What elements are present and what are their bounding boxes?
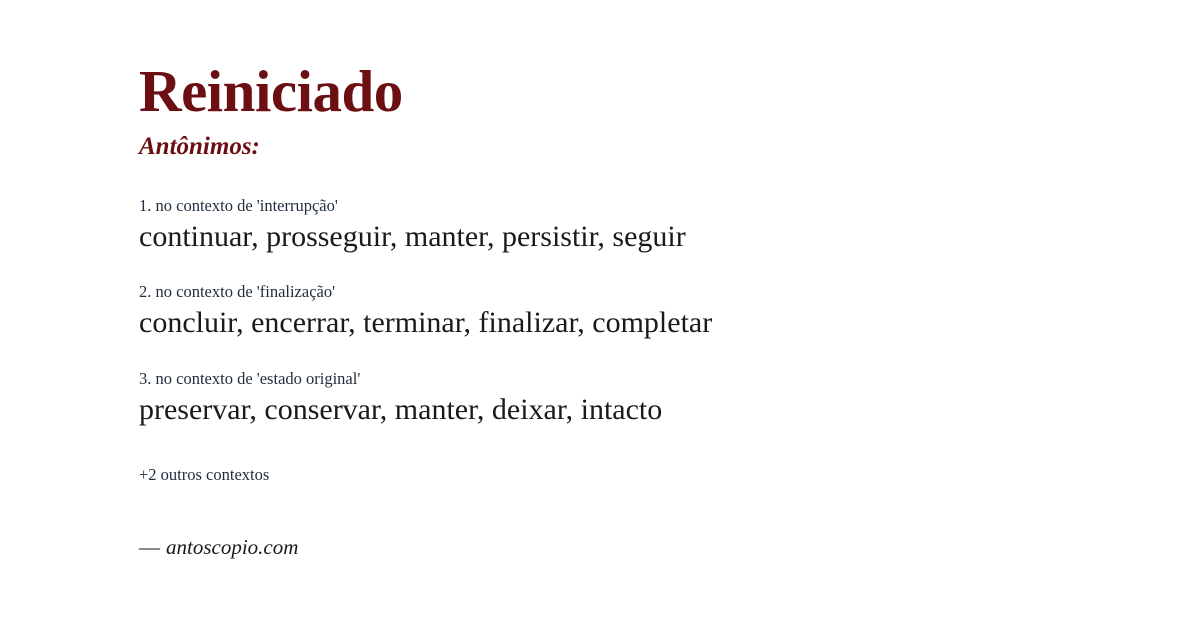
sense-entry: 2. no contexto de 'finalização' concluir… (139, 282, 1139, 341)
more-contexts-note: +2 outros contextos (139, 465, 269, 485)
sense-entry: 3. no contexto de 'estado original' pres… (139, 369, 1139, 428)
em-dash-icon: — (139, 535, 160, 559)
attribution-source: antoscopio.com (166, 535, 298, 559)
sense-context-label: 1. no contexto de 'interrupção' (139, 196, 1139, 216)
sense-antonyms: continuar, prosseguir, manter, persistir… (139, 218, 1139, 255)
sense-antonyms: concluir, encerrar, terminar, finalizar,… (139, 304, 1139, 341)
sense-context-label: 2. no contexto de 'finalização' (139, 282, 1139, 302)
word-card: Reiniciado Antônimos: 1. no contexto de … (0, 0, 1200, 628)
sense-entry: 1. no contexto de 'interrupção' continua… (139, 196, 1139, 255)
sense-antonyms: preservar, conservar, manter, deixar, in… (139, 391, 1139, 428)
section-subtitle: Antônimos: (139, 134, 260, 159)
sense-list: 1. no contexto de 'interrupção' continua… (139, 196, 1139, 455)
sense-context-label: 3. no contexto de 'estado original' (139, 369, 1139, 389)
attribution: —antoscopio.com (139, 535, 298, 560)
page-title: Reiniciado (139, 62, 403, 121)
